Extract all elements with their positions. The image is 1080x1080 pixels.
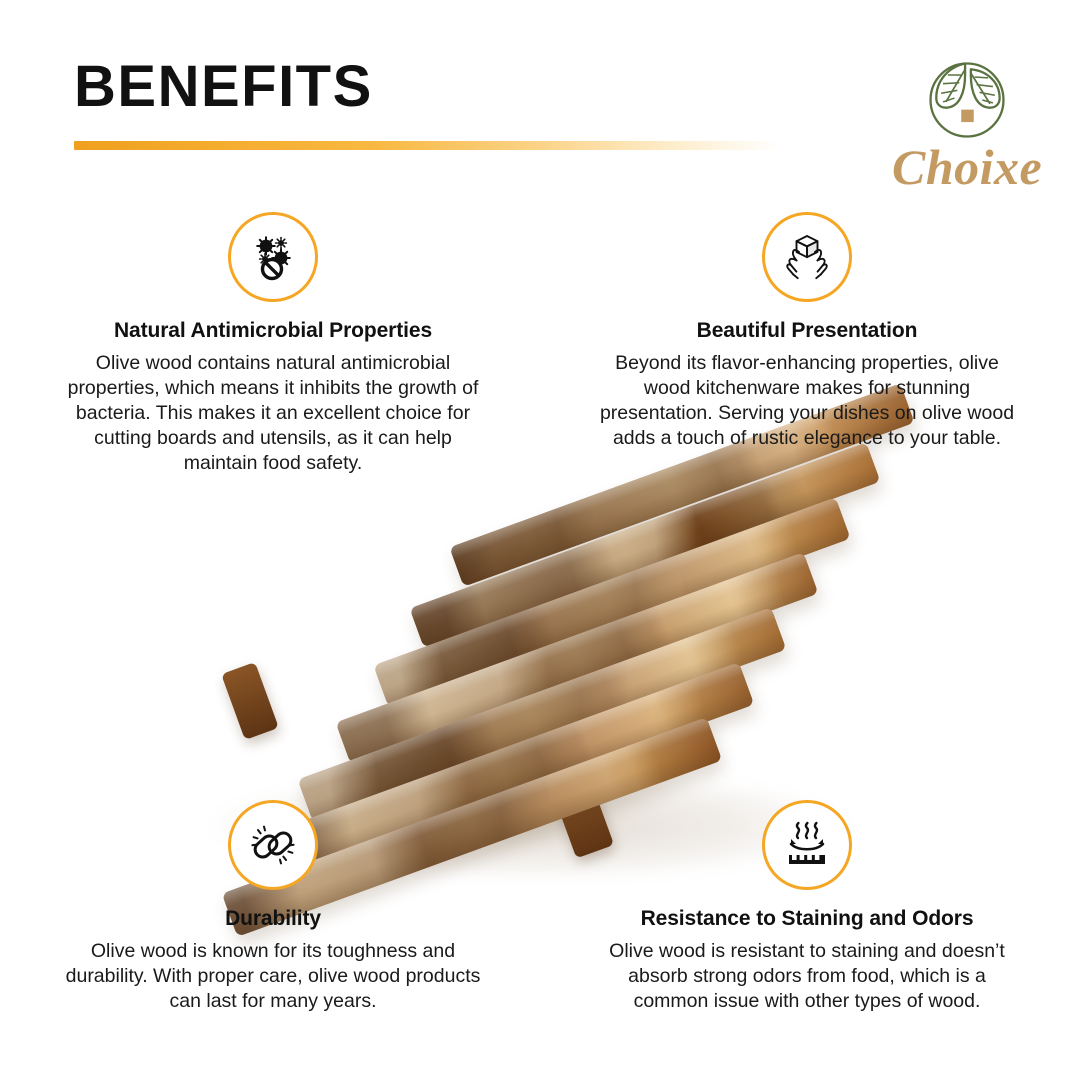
feature-title: Natural Antimicrobial Properties [38,318,508,343]
trivet-support-leg [221,662,279,740]
page-title: BENEFITS [74,58,373,116]
odor-steam-waves-icon [762,800,852,890]
antimicrobial-germ-blocked-icon [228,212,318,302]
feature-title: Durability [38,906,508,931]
hands-holding-box-icon [762,212,852,302]
title-underline-rule [74,141,780,150]
two-leaves-in-circle-icon [919,52,1015,148]
benefits-infographic: BENEFITS Choixe [0,0,1080,1080]
feature-title: Resistance to Staining and Odors [572,906,1042,931]
feature-description: Olive wood contains natural antimicrobia… [58,351,488,476]
feature-natural-antimicrobial-properties: Natural Antimicrobial Properties Olive w… [38,212,508,476]
feature-description: Olive wood is resistant to staining and … [592,939,1022,1014]
feature-title: Beautiful Presentation [572,318,1042,343]
feature-description: Olive wood is known for its toughness an… [58,939,488,1014]
logo-wordmark: Choixe [892,142,1042,192]
feature-beautiful-presentation: Beautiful Presentation Beyond its flavor… [572,212,1042,451]
brand-logo: Choixe [892,52,1042,192]
feature-resistance-to-staining-and-odors: Resistance to Staining and Odors Olive w… [572,800,1042,1014]
feature-durability: Durability Olive wood is known for its t… [38,800,508,1014]
chain-link-icon [228,800,318,890]
feature-description: Beyond its flavor-enhancing properties, … [592,351,1022,451]
